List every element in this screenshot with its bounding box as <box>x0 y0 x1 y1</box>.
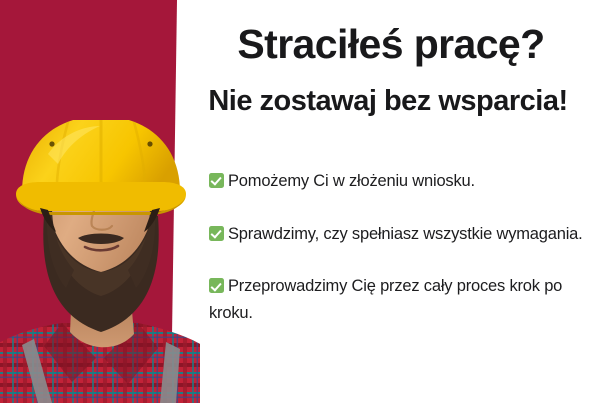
text-column: Straciłeś pracę? Nie zostawaj bez wsparc… <box>176 0 600 403</box>
benefit-list: Pomożemy Ci w złożeniu wniosku. Sprawdzi… <box>209 168 584 327</box>
headline: Straciłeś pracę? <box>182 23 600 66</box>
worker-photo <box>0 120 200 403</box>
green-check-icon <box>209 278 224 293</box>
list-item-label: Przeprowadzimy Cię przez cały proces kro… <box>209 277 562 322</box>
promo-banner: Straciłeś pracę? Nie zostawaj bez wsparc… <box>0 0 600 403</box>
green-check-icon <box>209 173 224 188</box>
green-check-icon <box>209 226 224 241</box>
list-item: Pomożemy Ci w złożeniu wniosku. <box>209 168 584 195</box>
list-item: Przeprowadzimy Cię przez cały proces kro… <box>209 273 584 326</box>
list-item-label: Pomożemy Ci w złożeniu wniosku. <box>228 172 475 190</box>
list-item: Sprawdzimy, czy spełniasz wszystkie wyma… <box>209 221 584 248</box>
subheadline: Nie zostawaj bez wsparcia! <box>178 86 598 118</box>
list-item-label: Sprawdzimy, czy spełniasz wszystkie wyma… <box>228 225 583 243</box>
